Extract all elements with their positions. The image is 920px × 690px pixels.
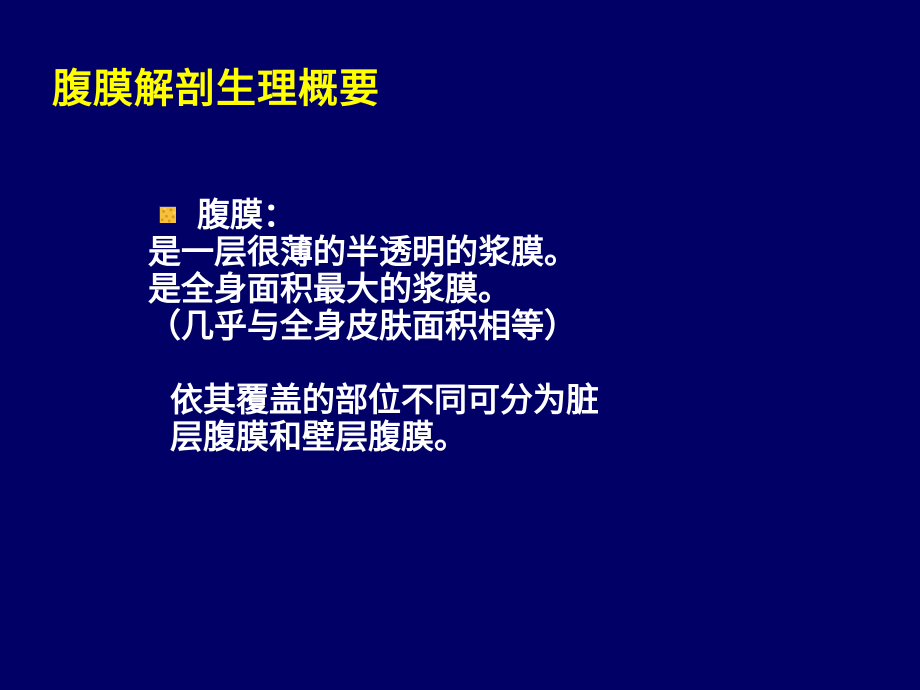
body-line: 是一层很薄的半透明的浆膜。 [148,233,848,270]
paragraph-spacer [148,344,848,381]
bullet-item-label: 腹膜： [197,196,296,233]
body-line: （几乎与全身皮肤面积相等） [148,307,848,344]
bullet-list-item: 腹膜： [159,196,848,233]
page-title: 腹膜解剖生理概要 [52,66,380,112]
body-line: 是全身面积最大的浆膜。 [148,270,848,307]
body-line: 依其覆盖的部位不同可分为脏 [170,381,848,418]
presentation-slide: 腹膜解剖生理概要 腹膜： 是一层很薄的半透明的浆膜。 是全身面积最大的浆膜。 （… [0,0,920,690]
body-line: 层腹膜和壁层腹膜。 [170,418,848,455]
filled-square-bullet-icon [159,206,176,223]
slide-content-body: 腹膜： 是一层很薄的半透明的浆膜。 是全身面积最大的浆膜。 （几乎与全身皮肤面积… [148,196,848,455]
